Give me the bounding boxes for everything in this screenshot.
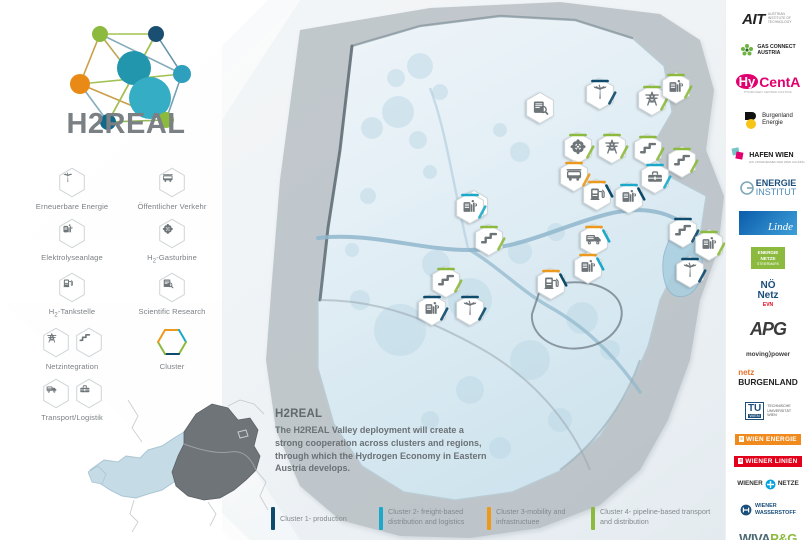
sponsor-logo-energienetze: ENERGIENETZE STEIERMARK	[728, 240, 808, 276]
map-marker-fuel-pump-icon[interactable]	[584, 180, 613, 211]
sponsor-name: WIVAP&G	[739, 532, 797, 540]
sponsor-name: WIENERWASSERSTOFF	[755, 503, 796, 517]
sponsor-logo-linde: Linde	[728, 206, 808, 240]
sponsor-name: Linde	[768, 221, 793, 233]
map-marker-turbine-fan-icon[interactable]	[565, 133, 594, 164]
map-marker-electrolyser-icon[interactable]	[616, 183, 645, 214]
cargo-icon	[73, 378, 105, 414]
map-marker-wind-turbine-icon[interactable]	[457, 295, 486, 326]
map-marker-truck-icon[interactable]	[581, 225, 610, 256]
cluster-legend-item-4: Cluster 4- pipeline-based transport and …	[591, 506, 711, 530]
cluster-color-bar	[487, 507, 491, 530]
sponsor-logo-netz-burgenland: netz BURGENLAND	[728, 362, 808, 394]
description-block: H2REAL The H2REAL Valley deployment will…	[275, 408, 490, 475]
sponsor-logo-wiener-wasserstoff: WIENERWASSERSTOFF	[728, 496, 808, 524]
cluster-color-bar	[271, 507, 275, 530]
legend-item-label: Cluster	[122, 363, 222, 371]
map-marker-fuel-pump-icon[interactable]	[538, 269, 567, 300]
gas-connect-mark	[740, 43, 754, 57]
legend-item-transport-logistics: Transport/Logistik	[22, 379, 122, 422]
sponsor-logo-wien-energie: ≡ WIEN ENERGIE	[728, 428, 808, 450]
legend-item-label: H2-Gasturbine	[122, 254, 222, 265]
sponsor-name: BurgenlandEnergie	[762, 113, 793, 128]
sponsor-name: AIT	[742, 12, 765, 27]
legend-item-fuel-station: H2-Tankstelle	[22, 273, 122, 319]
sponsor-logo-wiener-netze: WIENER NETZE	[728, 472, 808, 496]
cluster-legend-label: Cluster 3-mobility and infrastructuee	[496, 506, 591, 526]
burgenland-mark	[743, 111, 759, 129]
cluster-legend-label: Cluster 4- pipeline-based transport and …	[600, 506, 711, 526]
description-body: The H2REAL Valley deployment will create…	[275, 424, 490, 475]
sponsor-sub: AUSTRIAN INSTITUTE OF TECHNOLOGY	[768, 13, 794, 25]
energieinstitut-mark	[740, 181, 754, 195]
map-marker-electrolyser-icon[interactable]	[575, 253, 604, 284]
sponsor-name: HAFEN WIEN	[749, 152, 793, 159]
sponsor-logo-energieinstitut: ENERGIE INSTITUT	[728, 170, 808, 206]
legend-item-label: H2-Tankstelle	[22, 308, 122, 319]
sponsor-logo-burgenland: BurgenlandEnergie	[728, 102, 808, 138]
sponsor-logo-wiener-linien: ≡ WIENER LINIEN	[728, 450, 808, 472]
legend-item-grid-integration: Netzintegration	[22, 328, 122, 371]
sponsor-name: NETZE	[778, 481, 799, 487]
legend-item-renewable-energy: Erneuerbare Energie	[22, 168, 122, 211]
legend: Erneuerbare Energie Öffentlicher Verkehr	[22, 168, 222, 430]
pylon-icon	[40, 327, 72, 363]
pipeline-icon	[73, 327, 105, 363]
sponsor-logo-gas-connect: GAS CONNECTAUSTRIA	[728, 34, 808, 66]
map-marker-pylon-icon[interactable]	[599, 133, 628, 164]
sponsor-sub: INSTITUT	[756, 188, 797, 197]
fuel-pump-icon	[56, 272, 88, 308]
sponsor-sub: moving⟩power	[746, 350, 790, 358]
bus-icon	[156, 167, 188, 203]
cluster-hexagon-icon	[156, 327, 188, 362]
sponsor-logo-apg-tagline: moving⟩power	[728, 346, 808, 362]
legend-item-label: Scientific Research	[122, 308, 222, 316]
legend-item-label: Erneuerbare Energie	[22, 203, 122, 211]
map-marker-wind-turbine-icon[interactable]	[677, 257, 706, 288]
sponsor-sub: EIN UNTERNEHMEN DER WIEN HOLDING	[749, 161, 804, 164]
sponsor-logo-tu-wien: TU WIEN TECHNISCHEUNIVERSITÄTWIEN	[728, 394, 808, 428]
sponsor-logo-ait: AIT AUSTRIAN INSTITUTE OF TECHNOLOGY	[728, 4, 808, 34]
legend-item-electrolysis-plant: Elektrolyseanlage	[22, 219, 122, 265]
map-marker-electrolyser-icon[interactable]	[696, 230, 725, 261]
legend-item-public-transport: Öffentlicher Verkehr	[122, 168, 222, 211]
map-marker-cargo-icon[interactable]	[642, 163, 671, 194]
map-marker-pipeline-icon[interactable]	[635, 135, 664, 166]
wiener-netze-mark	[765, 479, 776, 490]
sponsor-name: WIENER LINIEN	[745, 458, 797, 465]
map-marker-electrolyser-icon[interactable]	[419, 295, 448, 326]
map-marker-pipeline-icon[interactable]	[433, 267, 462, 298]
legend-item-label: Transport/Logistik	[22, 414, 122, 422]
cluster-legend-label: Cluster 1- production	[280, 506, 347, 524]
map-marker-pipeline-icon[interactable]	[669, 147, 698, 178]
infographic-root: H2REAL Erneuerbare Energie	[0, 0, 810, 540]
map-marker-research-document-icon[interactable]	[527, 93, 554, 124]
legend-item-label: Netzintegration	[22, 363, 122, 371]
truck-icon	[40, 378, 72, 414]
sponsor-logo-noe-netz: NÖNetz EVN	[728, 276, 808, 312]
sponsor-name: Hy	[736, 74, 759, 89]
sponsor-sub: EVN	[757, 303, 778, 308]
page-title: H2REAL	[38, 108, 214, 141]
map-marker-pipeline-icon[interactable]	[476, 225, 505, 256]
sponsor-name: ENERGIENETZE	[753, 250, 783, 261]
wind-turbine-icon	[56, 167, 88, 203]
legend-item-gas-turbine: H2-Gasturbine	[122, 219, 222, 265]
sponsor-logo-hycenta: Hy CentA HYDROGEN CENTER AUSTRIA	[728, 66, 808, 102]
legend-item-scientific-research: Scientific Research	[122, 273, 222, 319]
sponsor-sub: STEIERMARK	[753, 262, 783, 266]
sponsor-rail: AIT AUSTRIAN INSTITUTE OF TECHNOLOGY GAS…	[725, 0, 810, 540]
description-title: H2REAL	[275, 408, 490, 420]
map-marker-pipeline-icon[interactable]	[670, 217, 699, 248]
legend-item-cluster: Cluster	[122, 328, 222, 371]
legend-item-label: Elektrolyseanlage	[22, 254, 122, 262]
cluster-legend: Cluster 1- production Cluster 2- freight…	[271, 506, 721, 530]
electrolyser-icon	[56, 218, 88, 254]
sponsor-name: NÖNetz	[757, 281, 778, 302]
map-marker-wind-turbine-icon[interactable]	[587, 79, 616, 110]
sponsor-logo-wiva: WIVAP&G Energy Model Region	[728, 524, 808, 540]
turbine-fan-icon	[156, 218, 188, 254]
wiener-wasserstoff-mark	[740, 504, 752, 516]
cluster-color-bar	[591, 507, 595, 530]
sponsor-name: APG	[750, 320, 786, 338]
sponsor-sub: TECHNISCHEUNIVERSITÄTWIEN	[767, 404, 791, 418]
sponsor-logo-hafen-wien: HAFEN WIEN EIN UNTERNEHMEN DER WIEN HOLD…	[728, 138, 808, 170]
cluster-legend-label: Cluster 2- freight-based distribution an…	[388, 506, 487, 526]
sponsor-name: GAS CONNECTAUSTRIA	[757, 44, 795, 56]
cluster-legend-item-2: Cluster 2- freight-based distribution an…	[379, 506, 487, 530]
sponsor-sub: HYDROGEN CENTER AUSTRIA	[736, 91, 801, 94]
legend-item-label: Öffentlicher Verkehr	[122, 203, 222, 211]
sponsor-name: WIEN ENERGIE	[746, 436, 797, 443]
research-document-icon	[156, 272, 188, 308]
cluster-legend-item-3: Cluster 3-mobility and infrastructuee	[487, 506, 591, 530]
cluster-legend-item-1: Cluster 1- production	[271, 506, 379, 530]
cluster-color-bar	[379, 507, 383, 530]
hafen-wien-mark	[731, 147, 747, 161]
sponsor-logo-apg: APG	[728, 312, 808, 346]
